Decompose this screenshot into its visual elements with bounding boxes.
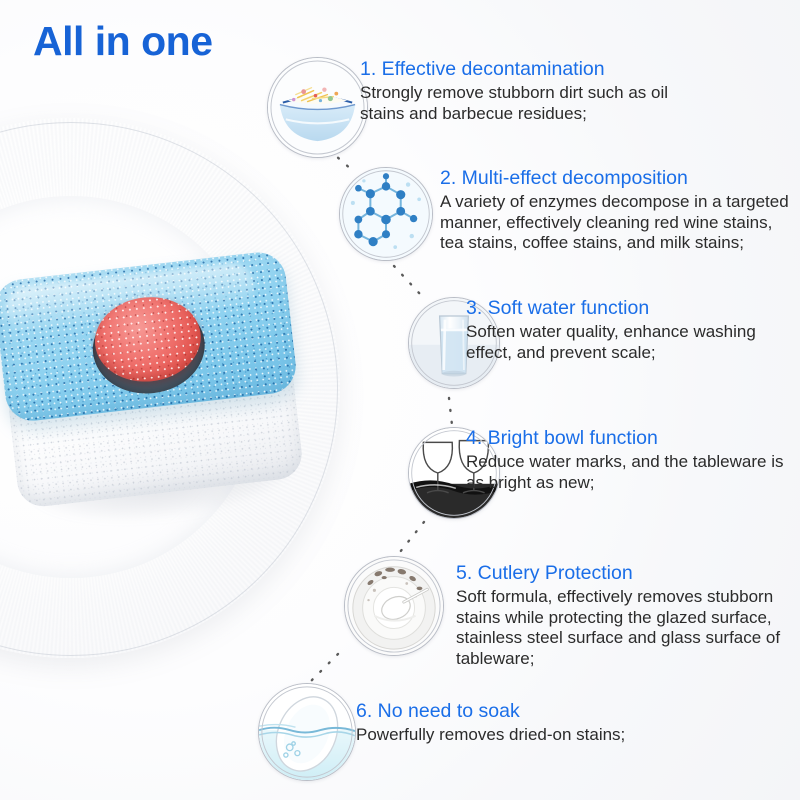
plate-cutlery-icon [344, 556, 444, 656]
feature-6-body: Powerfully removes dried-on stains; [356, 725, 776, 746]
feature-4-heading: 4. Bright bowl function [466, 427, 796, 450]
feature-5-heading: 5. Cutlery Protection [456, 562, 796, 585]
feature-3-text: 3. Soft water function Soften water qual… [466, 297, 796, 363]
feature-4-body: Reduce water marks, and the tableware is… [466, 452, 796, 493]
feature-1-heading: 1. Effective decontamination [360, 58, 700, 81]
feature-2-text: 2. Multi-effect decomposition A variety … [440, 167, 790, 254]
feature-5-body: Soft formula, effectively removes stubbo… [456, 587, 796, 669]
feature-1-body: Strongly remove stubborn dirt such as oi… [360, 83, 700, 124]
feature-4-text: 4. Bright bowl function Reduce water mar… [466, 427, 796, 493]
feature-5-text: 5. Cutlery Protection Soft formula, effe… [456, 562, 796, 669]
dishwasher-tablet [0, 239, 317, 547]
molecule-icon [339, 167, 433, 261]
page-title: All in one [33, 18, 213, 65]
feature-2-body: A variety of enzymes decompose in a targ… [440, 192, 790, 254]
feature-6-text: 6. No need to soak Powerfully removes dr… [356, 700, 776, 746]
connector-4-5 [392, 520, 430, 556]
feature-3-heading: 3. Soft water function [466, 297, 796, 320]
dirty-bowl-icon [267, 57, 368, 158]
infographic-canvas: All in one [0, 0, 800, 800]
feature-2-heading: 2. Multi-effect decomposition [440, 167, 790, 190]
connector-5-6 [304, 652, 344, 686]
connector-2-3 [392, 264, 428, 298]
connector-3-4 [440, 396, 460, 428]
plate-in-water-icon [258, 683, 356, 781]
feature-1-text: 1. Effective decontamination Strongly re… [360, 58, 700, 124]
feature-6-heading: 6. No need to soak [356, 700, 776, 723]
feature-3-body: Soften water quality, enhance washing ef… [466, 322, 796, 363]
